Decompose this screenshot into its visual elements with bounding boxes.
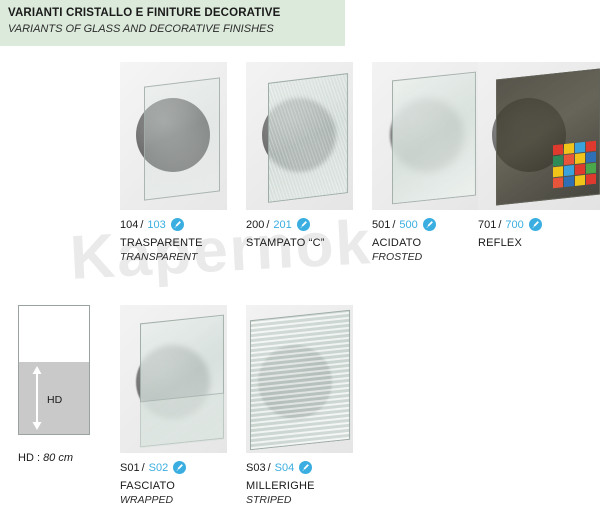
hd-caption-value: 80 cm [43, 452, 73, 464]
variant-name-it: REFLEX [478, 237, 600, 249]
variant-image-acidato [372, 62, 479, 210]
brush-icon [423, 218, 436, 231]
glass-pane [268, 73, 348, 203]
variant-card-millerighe[interactable]: S03 / S04 MILLERIGHE STRIPED [246, 305, 353, 506]
code-primary: 104 [120, 219, 138, 231]
color-chart-swatches [553, 141, 596, 189]
code-primary: 200 [246, 219, 264, 231]
code-separator: / [266, 219, 269, 231]
variant-image-reflex [478, 62, 600, 210]
variant-card-fasciato[interactable]: S01 / S02 FASCIATO WRAPPED [120, 305, 227, 506]
code-alternate: 700 [505, 219, 523, 231]
variant-card-stampato-c[interactable]: 200 / 201 STAMPATO “C” [246, 62, 353, 251]
hd-dimension-arrow [31, 366, 43, 430]
hd-caption: HD : 80 cm [18, 452, 73, 464]
code-alternate: S02 [149, 462, 169, 474]
glass-pane [250, 310, 350, 451]
code-alternate: S04 [275, 462, 295, 474]
variant-card-acidato[interactable]: 501 / 500 ACIDATO FROSTED [372, 62, 479, 263]
header-title-it: VARIANTI CRISTALLO E FINITURE DECORATIVE [8, 6, 345, 21]
variant-image-fasciato [120, 305, 227, 453]
variant-name-it: FASCIATO [120, 480, 227, 492]
brush-icon [171, 218, 184, 231]
brush-icon [297, 218, 310, 231]
header-banner: VARIANTI CRISTALLO E FINITURE DECORATIVE… [0, 0, 345, 46]
variant-name-it: ACIDATO [372, 237, 479, 249]
code-separator: / [140, 219, 143, 231]
variant-codes: 200 / 201 [246, 218, 353, 231]
variant-image-stampato-c [246, 62, 353, 210]
variant-name-en: STRIPED [246, 494, 353, 506]
code-primary: S01 [120, 462, 140, 474]
code-separator: / [498, 219, 501, 231]
code-primary: 701 [478, 219, 496, 231]
code-primary: S03 [246, 462, 266, 474]
hd-caption-separator: : [34, 452, 43, 464]
code-alternate: 500 [399, 219, 417, 231]
code-separator: / [392, 219, 395, 231]
variant-codes: 701 / 700 [478, 218, 600, 231]
hd-diagram: HD [18, 305, 90, 435]
glass-pane [144, 77, 220, 200]
hd-diagram-label: HD [47, 394, 62, 406]
code-separator: / [142, 462, 145, 474]
hd-caption-label: HD [18, 452, 34, 464]
code-alternate: 201 [273, 219, 291, 231]
variant-card-reflex[interactable]: 701 / 700 REFLEX [478, 62, 600, 251]
header-title-en: VARIANTS OF GLASS AND DECORATIVE FINISHE… [8, 22, 345, 37]
variant-card-transparente[interactable]: 104 / 103 TRASPARENTE TRANSPARENT [120, 62, 227, 263]
variant-name-it: MILLERIGHE [246, 480, 353, 492]
variant-name-it: STAMPATO “C” [246, 237, 353, 249]
variant-name-en: FROSTED [372, 251, 479, 263]
variant-image-transparente [120, 62, 227, 210]
wrapped-band [140, 393, 224, 449]
brush-icon [529, 218, 542, 231]
glass-pane [392, 72, 476, 205]
variant-codes: S01 / S02 [120, 461, 227, 474]
variant-name-en: WRAPPED [120, 494, 227, 506]
code-primary: 501 [372, 219, 390, 231]
code-alternate: 103 [147, 219, 165, 231]
variant-codes: 501 / 500 [372, 218, 479, 231]
variant-name-it: TRASPARENTE [120, 237, 227, 249]
variant-codes: S03 / S04 [246, 461, 353, 474]
code-separator: / [268, 462, 271, 474]
variant-codes: 104 / 103 [120, 218, 227, 231]
brush-icon [173, 461, 186, 474]
variant-image-millerighe [246, 305, 353, 453]
variant-name-en: TRANSPARENT [120, 251, 227, 263]
brush-icon [299, 461, 312, 474]
